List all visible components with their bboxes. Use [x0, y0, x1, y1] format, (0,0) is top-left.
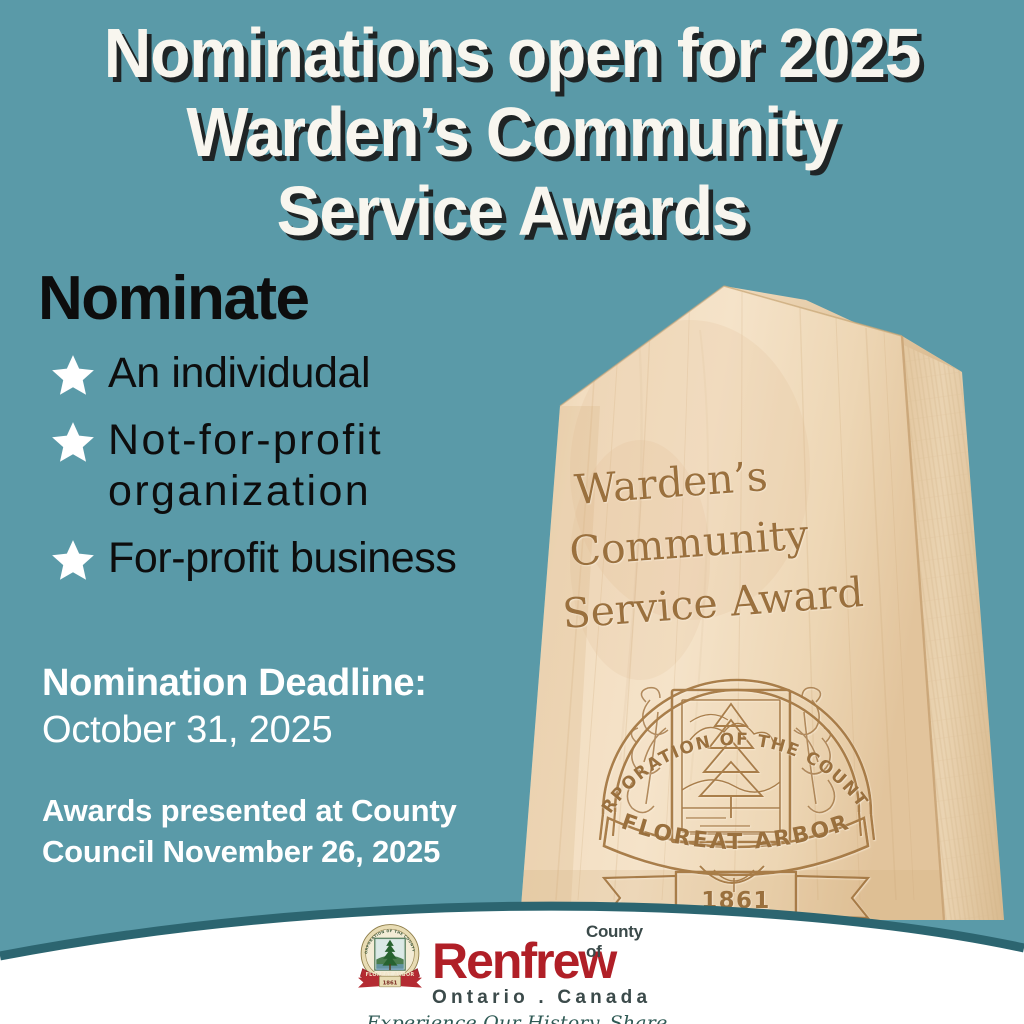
nominate-section: Nominate An individudal Not-for-profit o…	[38, 266, 558, 600]
deadline-date: October 31, 2025	[42, 706, 427, 754]
list-item: An individudal	[38, 348, 558, 399]
logo-tagline: Experience Our History, Share Our Future…	[352, 1012, 682, 1024]
star-icon	[50, 537, 96, 583]
deadline-section: Nomination Deadline: October 31, 2025	[42, 660, 427, 754]
svg-text:1861: 1861	[383, 981, 398, 987]
star-icon	[50, 419, 96, 465]
logo-county-of: County of	[586, 922, 651, 962]
list-item-label: Not-for-profit organization	[108, 415, 558, 517]
list-item: Not-for-profit organization	[38, 415, 558, 517]
deadline-label: Nomination Deadline:	[42, 660, 427, 706]
poster-canvas: Warden’s Community Service Award	[0, 0, 1024, 1024]
nominate-heading: Nominate	[38, 266, 558, 332]
list-item-label: For-profit business	[108, 533, 456, 584]
logo-ontario-canada: Ontario . Canada	[432, 987, 651, 1009]
list-item: For-profit business	[38, 533, 558, 584]
renfrew-county-crest-icon: FLOREAT ARBOR 1861 MUNICIPAL CORPORATION…	[352, 920, 428, 996]
list-item-label: An individudal	[108, 348, 370, 399]
renfrew-county-logo: FLOREAT ARBOR 1861 MUNICIPAL CORPORATION…	[352, 920, 682, 1020]
star-icon	[50, 352, 96, 398]
